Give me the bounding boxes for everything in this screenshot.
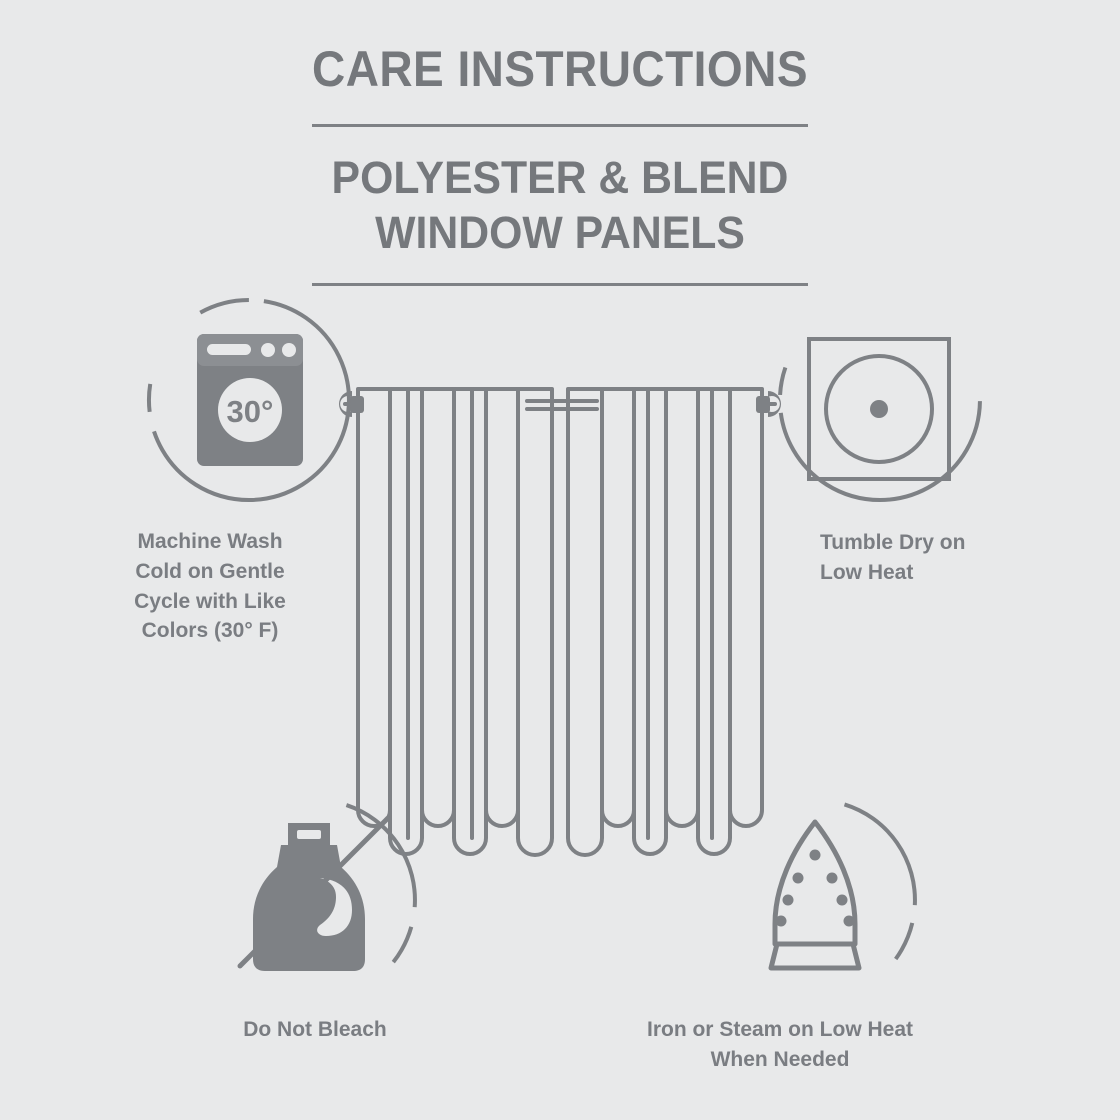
tumble-dry-low-icon — [809, 339, 949, 479]
caption-do-not-bleach: Do Not Bleach — [175, 1015, 455, 1045]
rod-finial-right — [756, 391, 781, 417]
caption-iron: Iron or Steam on Low Heat When Needed — [620, 1015, 940, 1075]
symbol-machine-wash: 30° — [149, 300, 349, 500]
iron-steam-holes — [776, 850, 855, 927]
symbol-do-not-bleach — [215, 800, 415, 1000]
rod-finial-left — [339, 391, 364, 417]
symbol-iron — [715, 800, 915, 1000]
curtain-panel-right — [568, 389, 762, 855]
wash-temperature-badge: 30° — [227, 394, 274, 429]
curtain-illustration — [339, 389, 781, 855]
curtain-panel-left — [358, 389, 552, 855]
care-instructions-sheet: CARE INSTRUCTIONS POLYESTER & BLENDWINDO… — [0, 0, 1120, 1120]
caption-machine-wash: Machine Wash Cold on Gentle Cycle with L… — [85, 527, 335, 646]
symbol-tumble-dry — [780, 300, 980, 500]
iron-icon — [771, 822, 859, 968]
caption-tumble-dry: Tumble Dry on Low Heat — [820, 528, 1080, 588]
